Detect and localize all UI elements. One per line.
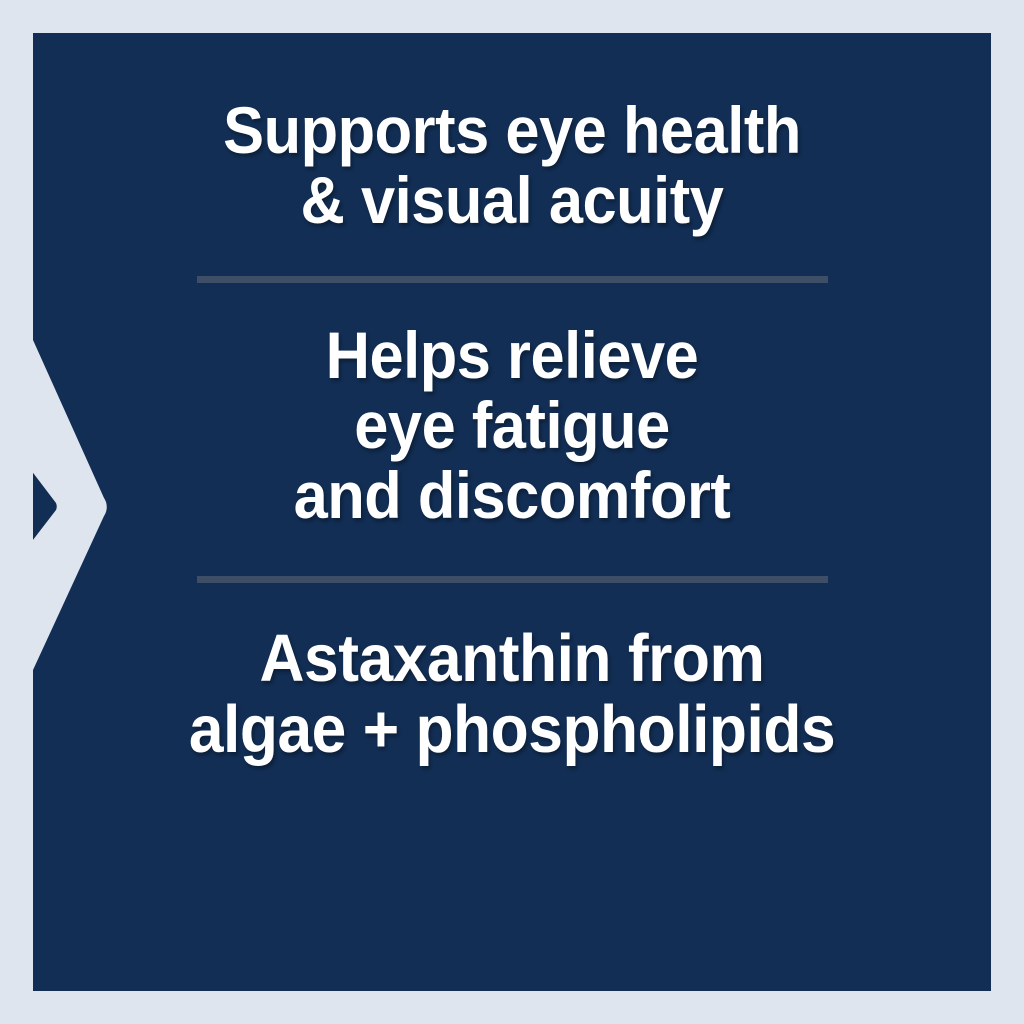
benefit-item-astaxanthin-ingredients: Astaxanthin from algae + phospholipids — [67, 623, 958, 765]
benefit-item-supports-eye-health: Supports eye health & visual acuity — [67, 96, 958, 236]
product-benefits-graphic: Supports eye health & visual acuity Help… — [0, 0, 1024, 1024]
benefit-line: algae + phospholipids — [67, 694, 958, 765]
benefit-divider — [197, 576, 828, 583]
benefit-line: Helps relieve — [67, 321, 958, 391]
benefit-line: & visual acuity — [67, 166, 958, 236]
benefit-line: and discomfort — [67, 461, 958, 531]
benefit-line: Supports eye health — [67, 96, 958, 166]
benefit-line: eye fatigue — [67, 391, 958, 461]
benefit-line: Astaxanthin from — [67, 623, 958, 694]
benefit-divider — [197, 276, 828, 283]
benefit-item-relieve-eye-fatigue: Helps relieve eye fatigue and discomfort — [67, 321, 958, 531]
benefits-list: Supports eye health & visual acuity Help… — [33, 33, 991, 991]
